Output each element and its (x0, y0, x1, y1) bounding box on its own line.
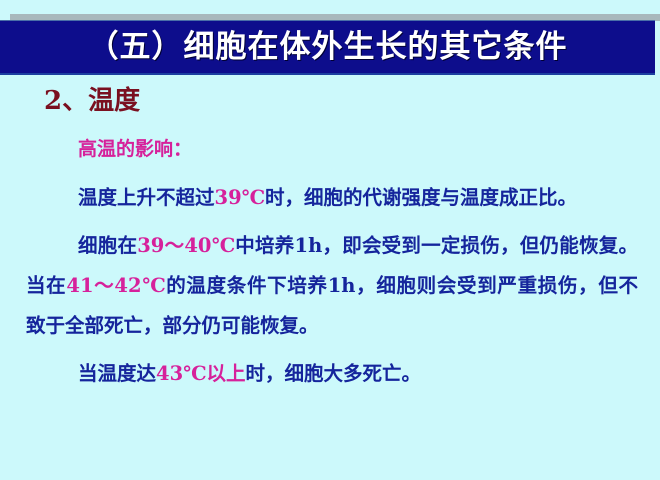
para-2: 细胞在39～40℃中培养1h，即会受到一定损伤，但仍能恢复。当在41～42℃的温… (26, 226, 638, 346)
presentation-slide: （五）细胞在体外生长的其它条件 2、温度 高温的影响： 温度上升不超过39℃时，… (0, 0, 660, 480)
para-3: 当温度达43℃以上时，细胞大多死亡。 (26, 354, 638, 394)
temperature-highlight: 39℃ (215, 186, 266, 209)
temperature-highlight: 39～40℃ (137, 234, 235, 257)
temperature-highlight: 43℃以上 (156, 362, 246, 385)
page-title: （五）细胞在体外生长的其它条件 (88, 32, 568, 63)
body-text-block: 温度上升不超过39℃时，细胞的代谢强度与温度成正比。 细胞在39～40℃中培养1… (26, 178, 638, 394)
body-text-run: 时，细胞的代谢强度与温度成正比。 (265, 186, 577, 209)
temperature-highlight: 41～42℃ (66, 274, 166, 297)
sub-label-high-temperature-effects: 高温的影响： (78, 134, 192, 161)
para-1: 温度上升不超过39℃时，细胞的代谢强度与温度成正比。 (26, 178, 638, 218)
body-text-run: 时，细胞大多死亡。 (246, 362, 422, 385)
body-text-run: 当温度达 (78, 362, 156, 385)
body-text-run: 细胞在 (78, 234, 137, 257)
section-heading: 2、温度 (44, 80, 140, 117)
body-text-run: 温度上升不超过 (78, 186, 215, 209)
slide-title-bar: （五）细胞在体外生长的其它条件 (0, 20, 655, 75)
